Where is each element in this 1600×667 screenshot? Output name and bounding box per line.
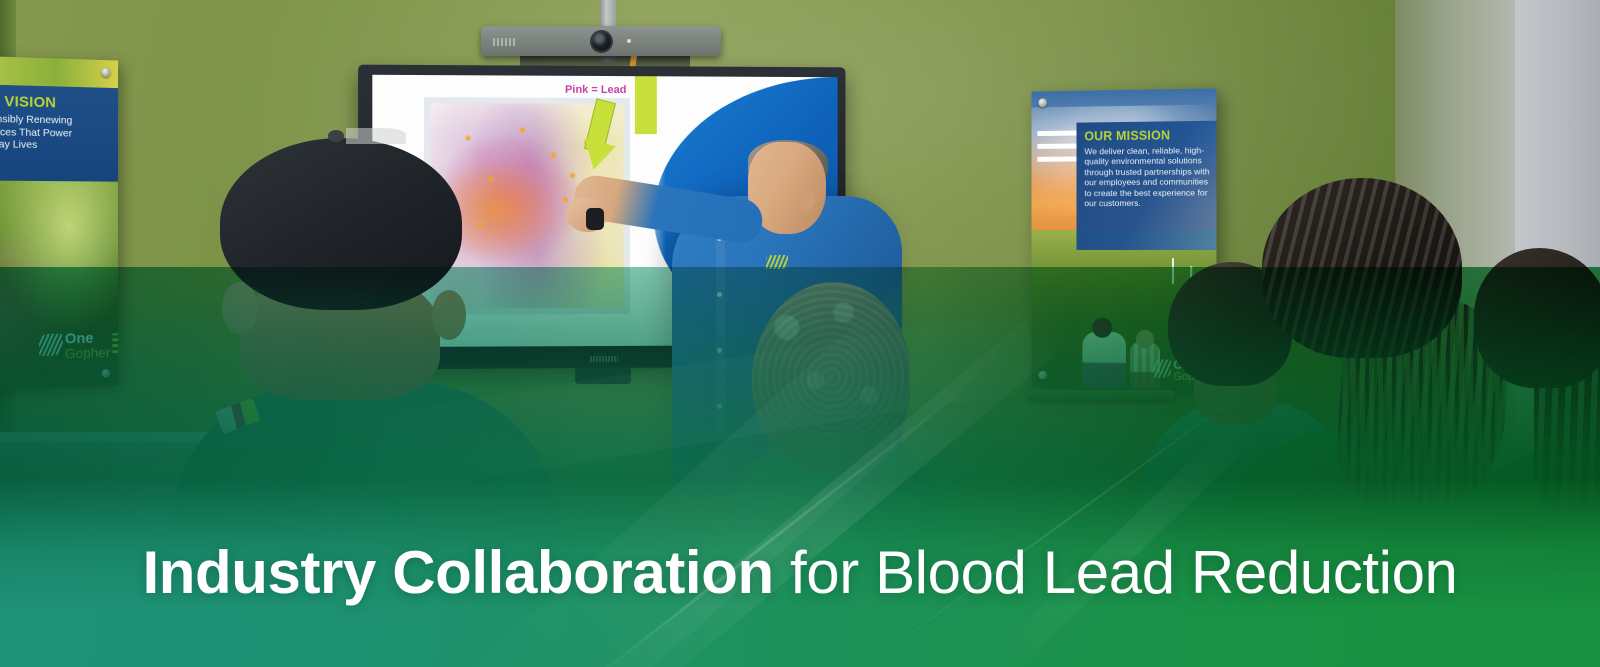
poster-shelf <box>1028 390 1174 400</box>
poster-mount-screw <box>102 68 111 77</box>
banner-title-regular: for Blood Lead Reduction <box>774 539 1458 606</box>
poster-mission-text-panel: OUR MISSION We deliver clean, reliable, … <box>1077 121 1217 250</box>
attendee-with-black-cap <box>196 132 496 492</box>
slide-accent-bar <box>635 76 657 134</box>
yellow-arrow-icon <box>579 100 619 178</box>
attendee-with-curly-gray-hair <box>752 282 910 502</box>
poster-vision-heading: OUR VISION <box>0 92 118 113</box>
camera-status-led <box>627 39 631 43</box>
camera-lens-icon <box>592 32 611 51</box>
one-gopher-logo: One Gopher <box>65 331 110 361</box>
cisco-logo-icon <box>493 38 515 46</box>
presentation-clicker <box>586 208 604 230</box>
cap-brim <box>346 128 406 144</box>
poster-mission-heading: OUR MISSION <box>1084 128 1210 144</box>
sharp-brand-logo <box>590 356 618 362</box>
poster-figure-adult-head <box>1092 318 1112 338</box>
attendee-ear <box>432 290 466 340</box>
attendee-hair <box>1474 248 1600 388</box>
promo-banner-image: OUR VISION Responsibly Renewing Resource… <box>0 0 1600 667</box>
gopher-bars-icon <box>112 333 118 353</box>
attendee-hair <box>752 282 910 472</box>
attendee-ear <box>222 282 258 334</box>
poster-mission-body: We deliver clean, reliable, high-quality… <box>1084 145 1210 209</box>
poster-top-band <box>0 55 118 88</box>
poster-figure-adult <box>1082 332 1126 390</box>
cap-top-button <box>328 130 344 142</box>
attendee-far-right <box>1474 248 1600 488</box>
poster-text-panel: OUR VISION Responsibly Renewing Resource… <box>0 84 118 182</box>
attendee-hair <box>1262 178 1462 358</box>
attendee-with-locs <box>1252 178 1482 508</box>
baseball-cap <box>220 138 462 310</box>
banner-title-bold: Industry Collaboration <box>142 539 773 606</box>
poster-vision-photo: One Gopher <box>0 180 118 390</box>
display-mount-bracket <box>575 368 631 384</box>
poster-vision-body: Responsibly Renewing Resources That Powe… <box>0 112 118 153</box>
poster-our-vision: OUR VISION Responsibly Renewing Resource… <box>0 55 118 390</box>
logo-word-gopher: Gopher <box>65 345 110 361</box>
presenter-ear <box>800 190 815 210</box>
pink-equals-lead-callout: Pink = Lead <box>565 84 626 96</box>
presenter-shirt-logo-icon <box>766 255 788 269</box>
gopher-swoosh-icon <box>39 334 63 357</box>
counter-seam <box>108 442 112 552</box>
banner-title: Industry Collaboration for Blood Lead Re… <box>0 541 1600 605</box>
poster-mount-screw <box>1038 371 1047 380</box>
poster-figure-child-head <box>1136 330 1154 348</box>
